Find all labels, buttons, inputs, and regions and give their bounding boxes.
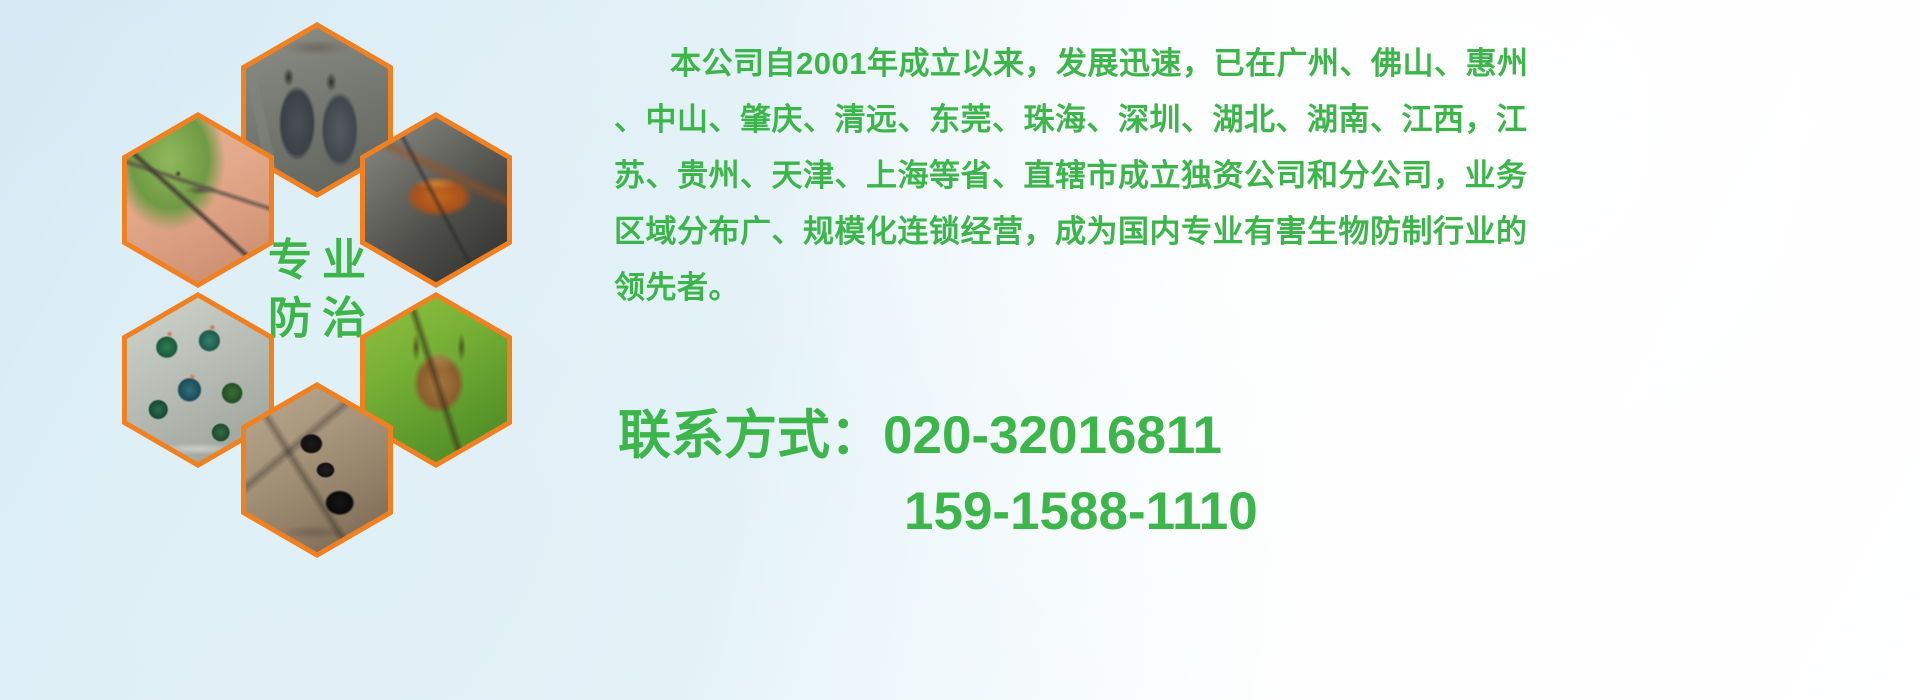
intro-line-1: 本公司自2001年成立以来，发展迅速，已在广州、佛山、惠州: [614, 36, 1884, 92]
ant-photo: [246, 388, 388, 552]
contact-label: 联系方式：: [618, 406, 883, 465]
contact-block: 联系方式：020-32016811 159-1588-1110: [618, 398, 1258, 550]
company-intro: 本公司自2001年成立以来，发展迅速，已在广州、佛山、惠州 、中山、肇庆、清远、…: [614, 36, 1884, 316]
intro-line-1-text: 本公司自2001年成立以来，发展迅速，已在广州、佛山、惠州: [670, 46, 1528, 81]
intro-line-5: 领先者。: [614, 260, 1884, 316]
promo-banner: 专业 防治 本公司自2001年成立以来，发展迅速，已在广州、佛山、惠州 、中山、…: [0, 0, 1920, 700]
intro-line-4: 区域分布广、规模化连锁经营，成为国内专业有害生物防制行业的: [614, 204, 1884, 260]
contact-secondary-line: 159-1588-1110: [618, 474, 1258, 550]
center-slogan-line2: 防治: [258, 297, 376, 341]
center-slogan-line1: 专业: [258, 239, 376, 283]
contact-phone-secondary[interactable]: 159-1588-1110: [904, 482, 1258, 541]
intro-line-3: 苏、贵州、天津、上海等省、直辖市成立独资公司和分公司，业务: [614, 148, 1884, 204]
intro-line-2: 、中山、肇庆、清远、东莞、珠海、深圳、湖北、湖南、江西，江: [614, 92, 1884, 148]
contact-primary-line: 联系方式：020-32016811: [618, 398, 1258, 474]
contact-phone-primary[interactable]: 020-32016811: [883, 406, 1222, 465]
hex-image-mask-ant: [246, 388, 388, 552]
hex-collage: 专业 防治: [88, 10, 588, 570]
